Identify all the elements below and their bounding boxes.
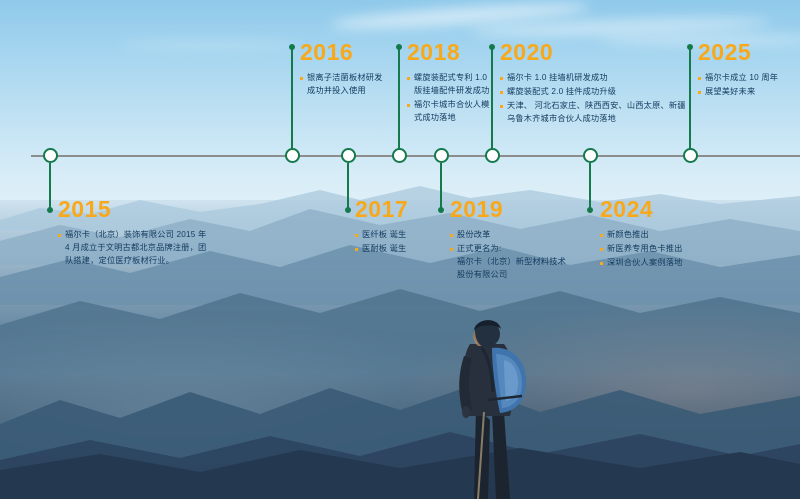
entry-year: 2025 xyxy=(698,41,794,64)
bullet-dot-icon xyxy=(300,77,303,80)
bullet-text: 正式更名为: 福尔卡（北京）新型材料技术 股份有限公司 xyxy=(457,242,566,281)
entry-bullets: 新颜色推出 新医养专用色卡推出 深圳合伙人案例落地 xyxy=(600,228,720,269)
bullet-text: 深圳合伙人案例落地 xyxy=(607,256,683,269)
entry-bullets: 银离子洁菌板材研发 成功并投入使用 xyxy=(300,71,388,97)
entry-year: 2016 xyxy=(300,41,388,64)
bullet-text: 展望美好未来 xyxy=(705,85,755,98)
bullet-text: 天津、 河北石家庄、陕西西安、山西太原、新疆 乌鲁木齐城市合伙人成功落地 xyxy=(507,99,686,125)
bullet-dot-icon xyxy=(600,262,603,265)
bullet-item: 股份改革 xyxy=(450,228,570,241)
bullet-dot-icon xyxy=(600,234,603,237)
bullet-text: 螺旋装配式专利 1.0 版挂墙配件研发成功 xyxy=(414,71,490,97)
timeline-entry-2025: 2025 福尔卡成立 10 周年 展望美好未来 xyxy=(698,41,794,99)
timeline-entry-2019: 2019 股份改革 正式更名为: 福尔卡（北京）新型材料技术 股份有限公司 xyxy=(450,198,570,282)
bullet-dot-icon xyxy=(407,104,410,107)
timeline-entry-2024: 2024 新颜色推出 新医养专用色卡推出 深圳合伙人案例落地 xyxy=(600,198,720,270)
entry-bullets: 福尔卡 1.0 挂墙机研发成功 螺旋装配式 2.0 挂件成功升级 天津、 河北石… xyxy=(500,71,690,125)
entry-bullets: 螺旋装配式专利 1.0 版挂墙配件研发成功 福尔卡城市合伙人模 式成功落地 xyxy=(407,71,499,124)
bullet-item: 医耐板 诞生 xyxy=(355,242,435,255)
bullet-item: 新颜色推出 xyxy=(600,228,720,241)
bullet-dot-icon xyxy=(698,91,701,94)
bullet-dot-icon xyxy=(698,77,701,80)
bullet-item: 展望美好未来 xyxy=(698,85,794,98)
bullet-item: 天津、 河北石家庄、陕西西安、山西太原、新疆 乌鲁木齐城市合伙人成功落地 xyxy=(500,99,690,125)
timeline-entry-2018: 2018 螺旋装配式专利 1.0 版挂墙配件研发成功 福尔卡城市合伙人模 式成功… xyxy=(407,41,499,125)
bullet-text: 医耐板 诞生 xyxy=(362,242,406,255)
bullet-item: 螺旋装配式专利 1.0 版挂墙配件研发成功 xyxy=(407,71,499,97)
bullet-dot-icon xyxy=(450,248,453,251)
bullet-text: 福尔卡（北京）装饰有限公司 2015 年 4 月成立于文明古都北京品牌注册，团 … xyxy=(65,228,206,267)
entry-bullets: 股份改革 正式更名为: 福尔卡（北京）新型材料技术 股份有限公司 xyxy=(450,228,570,281)
bullet-item: 银离子洁菌板材研发 成功并投入使用 xyxy=(300,71,388,97)
entry-bullets: 医纤板 诞生 医耐板 诞生 xyxy=(355,228,435,255)
bullet-item: 福尔卡（北京）装饰有限公司 2015 年 4 月成立于文明古都北京品牌注册，团 … xyxy=(58,228,208,267)
bullet-item: 福尔卡成立 10 周年 xyxy=(698,71,794,84)
bullet-item: 深圳合伙人案例落地 xyxy=(600,256,720,269)
bullet-dot-icon xyxy=(500,91,503,94)
bullet-text: 新颜色推出 xyxy=(607,228,649,241)
entry-bullets: 福尔卡成立 10 周年 展望美好未来 xyxy=(698,71,794,98)
entry-bullets: 福尔卡（北京）装饰有限公司 2015 年 4 月成立于文明古都北京品牌注册，团 … xyxy=(58,228,208,267)
bullet-text: 银离子洁菌板材研发 成功并投入使用 xyxy=(307,71,383,97)
timeline-entry-2020: 2020 福尔卡 1.0 挂墙机研发成功 螺旋装配式 2.0 挂件成功升级 天津… xyxy=(500,41,690,126)
bullet-dot-icon xyxy=(58,234,61,237)
entry-year: 2020 xyxy=(500,41,690,64)
bullet-text: 股份改革 xyxy=(457,228,491,241)
bullet-dot-icon xyxy=(500,77,503,80)
entry-year: 2024 xyxy=(600,198,720,221)
bullet-dot-icon xyxy=(600,248,603,251)
hiker-figure xyxy=(430,300,560,499)
bullet-item: 医纤板 诞生 xyxy=(355,228,435,241)
bullet-text: 新医养专用色卡推出 xyxy=(607,242,683,255)
bullet-text: 螺旋装配式 2.0 挂件成功升级 xyxy=(507,85,616,98)
bullet-text: 医纤板 诞生 xyxy=(362,228,406,241)
bullet-dot-icon xyxy=(500,105,503,108)
timeline-entry-2017: 2017 医纤板 诞生 医耐板 诞生 xyxy=(355,198,435,256)
timeline-entry-2016: 2016 银离子洁菌板材研发 成功并投入使用 xyxy=(300,41,388,98)
foreground-ridge-dark xyxy=(0,430,800,499)
timeline-infographic: 2016 银离子洁菌板材研发 成功并投入使用 2018 螺旋装配式专利 1.0 … xyxy=(0,0,800,499)
bullet-text: 福尔卡成立 10 周年 xyxy=(705,71,778,84)
bullet-item: 螺旋装配式 2.0 挂件成功升级 xyxy=(500,85,690,98)
bullet-text: 福尔卡城市合伙人模 式成功落地 xyxy=(414,98,490,124)
cloud-wisp xyxy=(120,40,300,50)
bullet-dot-icon xyxy=(450,234,453,237)
bullet-item: 福尔卡城市合伙人模 式成功落地 xyxy=(407,98,499,124)
entry-year: 2015 xyxy=(58,198,208,221)
bullet-item: 福尔卡 1.0 挂墙机研发成功 xyxy=(500,71,690,84)
bullet-dot-icon xyxy=(355,248,358,251)
bullet-item: 新医养专用色卡推出 xyxy=(600,242,720,255)
entry-year: 2017 xyxy=(355,198,435,221)
entry-year: 2019 xyxy=(450,198,570,221)
bullet-dot-icon xyxy=(407,77,410,80)
bullet-dot-icon xyxy=(355,234,358,237)
timeline-entry-2015: 2015 福尔卡（北京）装饰有限公司 2015 年 4 月成立于文明古都北京品牌… xyxy=(58,198,208,268)
bullet-text: 福尔卡 1.0 挂墙机研发成功 xyxy=(507,71,608,84)
entry-year: 2018 xyxy=(407,41,499,64)
bullet-item: 正式更名为: 福尔卡（北京）新型材料技术 股份有限公司 xyxy=(450,242,570,281)
